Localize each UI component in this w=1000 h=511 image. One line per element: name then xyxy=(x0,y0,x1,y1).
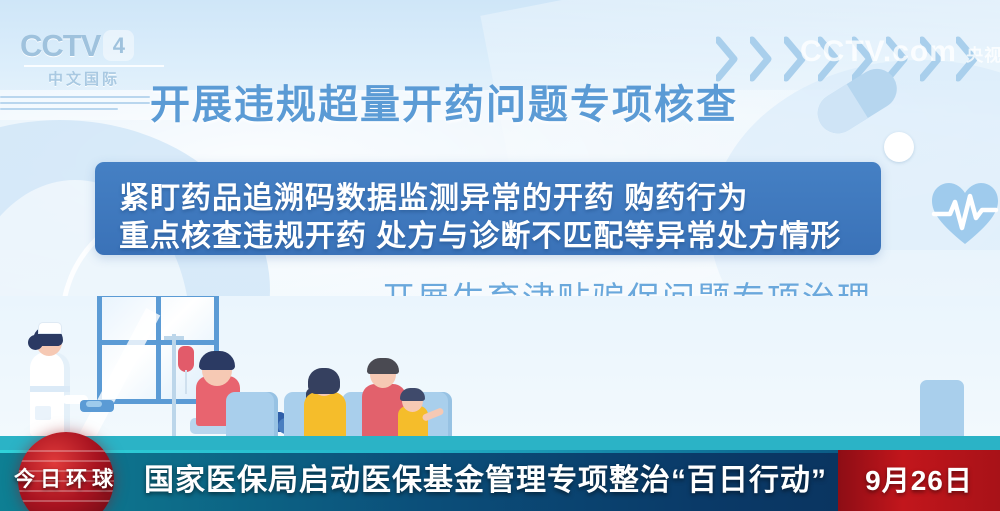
network-watermark: CCTV.com 央视网 xyxy=(800,28,1000,76)
date-badge: 9月26日 xyxy=(838,450,1000,511)
hospital-illustration xyxy=(0,296,1000,450)
date-badge-label: 9月26日 xyxy=(838,450,1000,511)
channel-number: 4 xyxy=(103,30,134,61)
illustration-floor xyxy=(0,436,1000,450)
broadcast-screen: CCTV4 中文国际 CCTV.com 央视网 开展违规超量开药问题专项核查 紧… xyxy=(0,0,1000,511)
logo-rule xyxy=(24,65,164,67)
highlight-banner: 紧盯药品追溯码数据监测异常的开药 购药行为 重点核查违规开药 处方与诊断不匹配等… xyxy=(95,162,881,255)
watermark-cn: 央视网 xyxy=(966,46,1000,65)
news-ticker-bar: 今日环球 国家医保局启动医保基金管理专项整治“百日行动” 9月26日 xyxy=(0,450,1000,511)
chevron-right-icon xyxy=(750,36,772,82)
reception-counter xyxy=(920,380,964,436)
seated-woman-figure xyxy=(298,362,358,436)
heart-pulse-icon xyxy=(930,180,1000,246)
waiting-seat xyxy=(226,392,278,436)
seated-man-figure xyxy=(356,352,432,436)
iv-stand-pole xyxy=(172,334,176,436)
pill-icon xyxy=(884,132,914,162)
page-title: 开展违规超量开药问题专项核查 xyxy=(150,72,738,130)
program-name-label: 今日环球 xyxy=(14,464,134,496)
news-headline: 国家医保局启动医保基金管理专项整治“百日行动” xyxy=(144,460,827,502)
nurse-figure xyxy=(22,318,84,436)
decor-stripes xyxy=(0,96,150,118)
child-figure xyxy=(396,386,438,436)
iv-stand-hook xyxy=(164,336,184,340)
banner-line-2: 重点核查违规开药 处方与诊断不匹配等异常处方情形 xyxy=(119,211,841,255)
waiting-seats-group xyxy=(226,378,476,436)
channel-logo-text: CCTV xyxy=(20,28,100,63)
